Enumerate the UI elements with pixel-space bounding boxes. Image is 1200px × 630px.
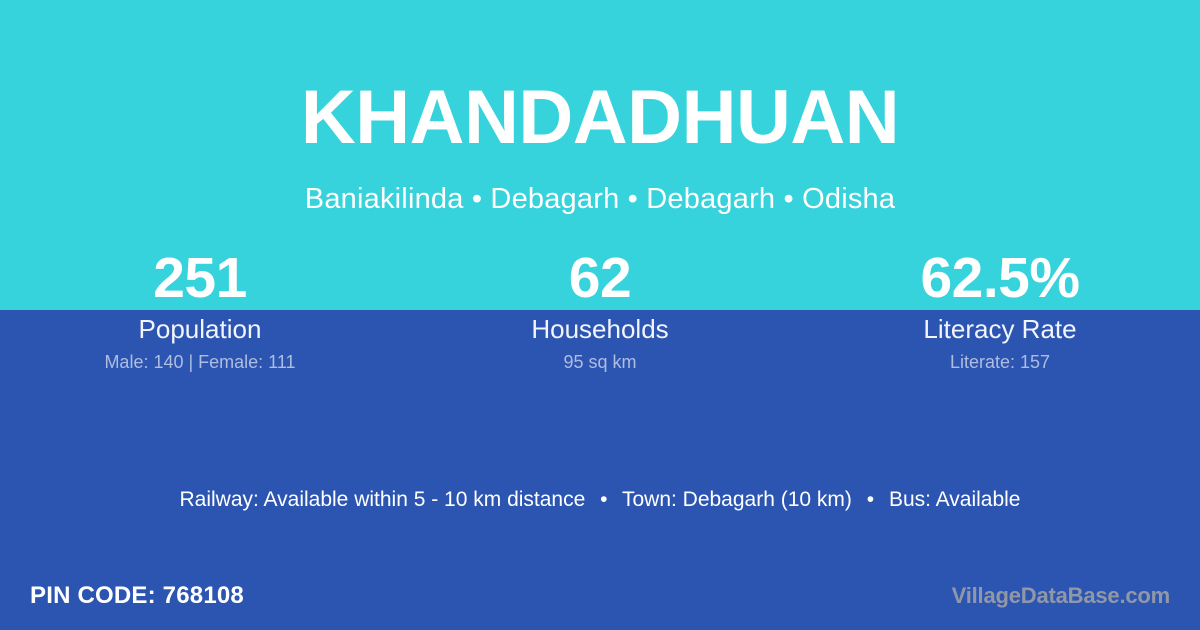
connectivity-railway: Railway: Available within 5 - 10 km dist…	[179, 488, 585, 511]
stat-households: 62 Households 95 sq km	[400, 246, 800, 373]
stat-value-households: 62	[400, 246, 800, 310]
stat-label-population: Population	[0, 314, 400, 344]
connectivity-line: Railway: Available within 5 - 10 km dist…	[0, 487, 1200, 513]
stat-label-households: Households	[400, 314, 800, 344]
breadcrumb: Baniakilinda • Debagarh • Debagarh • Odi…	[0, 182, 1200, 216]
connectivity-separator-1: •	[591, 487, 616, 513]
connectivity-town: Town: Debagarh (10 km)	[622, 488, 852, 511]
site-watermark: VillageDataBase.com	[952, 582, 1170, 610]
stat-sub-population: Male: 140 | Female: 111	[0, 351, 400, 373]
stat-sub-literacy-rate: Literate: 157	[800, 351, 1200, 373]
stat-population: 251 Population Male: 140 | Female: 111	[0, 246, 400, 373]
stat-literacy-rate: 62.5% Literacy Rate Literate: 157	[800, 246, 1200, 373]
village-info-card: KHANDADHUAN Baniakilinda • Debagarh • De…	[0, 0, 1200, 630]
page-title: KHANDADHUAN	[0, 76, 1200, 160]
stats-row: 251 Population Male: 140 | Female: 111 6…	[0, 246, 1200, 373]
stat-value-population: 251	[0, 246, 400, 310]
stat-value-literacy-rate: 62.5%	[800, 246, 1200, 310]
stat-sub-households: 95 sq km	[400, 351, 800, 373]
connectivity-separator-2: •	[858, 487, 883, 513]
pin-code: PIN CODE: 768108	[30, 581, 244, 611]
card-footer: PIN CODE: 768108 VillageDataBase.com	[0, 575, 1200, 617]
connectivity-bus: Bus: Available	[889, 488, 1021, 511]
stat-label-literacy-rate: Literacy Rate	[800, 314, 1200, 344]
